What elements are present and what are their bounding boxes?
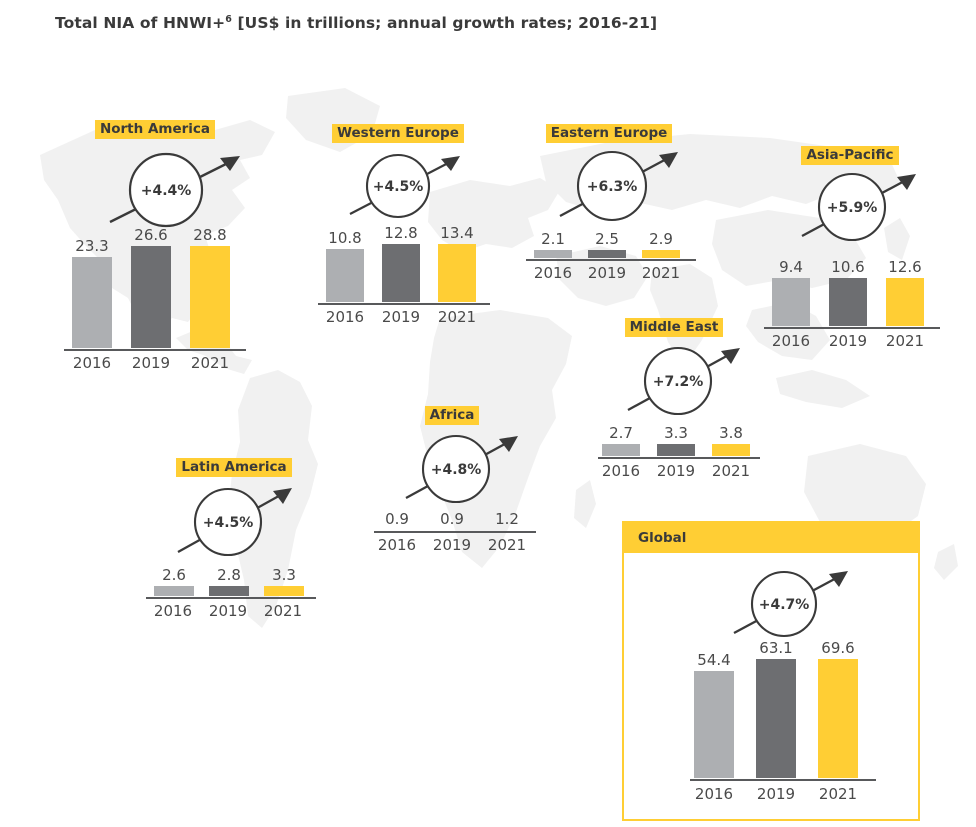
region-label-asia-pacific: Asia-Pacific [801, 146, 898, 165]
bar-rect-2019 [588, 250, 626, 258]
bar-value-2021-asia-pacific: 12.6 [888, 260, 921, 275]
region-label-north-america: North America [95, 120, 215, 139]
bar-2021-africa: 1.2 [488, 516, 526, 530]
growth-value-eastern-europe: +6.3% [587, 179, 638, 195]
growth-arrow-head-icon [721, 348, 740, 364]
axis-line-global [690, 779, 876, 781]
bar-2019-middle-east: 3.3 [657, 426, 695, 456]
bar-2019-eastern-europe: 2.5 [588, 232, 626, 258]
bar-value-2021-western-europe: 13.4 [440, 226, 473, 241]
global-panel-header: Global [624, 523, 918, 553]
growth-value-latin-america: +4.5% [203, 515, 254, 531]
bar-rect-2021 [438, 244, 476, 302]
page-title-superscript: 6 [225, 14, 232, 25]
growth-value-north-america: +4.4% [141, 183, 192, 199]
axis-line-north-america [64, 349, 246, 351]
bar-rect-2016 [772, 278, 810, 326]
page-title-text-before: Total NIA of HNWI+ [55, 14, 225, 32]
bar-value-2019-eastern-europe: 2.5 [595, 232, 619, 247]
year-label-2019: 2019 [753, 787, 799, 802]
bar-2021-north-america: 28.8 [190, 228, 230, 348]
bar-rect-2016 [326, 249, 364, 302]
bar-value-2016-north-america: 23.3 [75, 239, 108, 254]
year-label-2016: 2016 [598, 464, 644, 479]
region-cluster-western-europe: Western Europe +4.5% 10.8 12.8 13.4 2016… [314, 122, 504, 338]
growth-badge-latin-america: +4.5% [176, 480, 302, 564]
bar-rect-2021 [264, 586, 304, 596]
bar-value-2019-north-america: 26.6 [134, 228, 167, 243]
bar-2016-middle-east: 2.7 [602, 426, 640, 456]
bar-value-2019-middle-east: 3.3 [664, 426, 688, 441]
region-label-middle-east: Middle East [625, 318, 724, 337]
bar-2019-western-europe: 12.8 [382, 226, 420, 302]
bar-rect-2021 [642, 250, 680, 258]
bar-value-2016-global: 54.4 [697, 653, 730, 668]
year-label-2021: 2021 [260, 604, 306, 619]
year-label-2021: 2021 [484, 538, 530, 553]
year-label-2016: 2016 [68, 356, 116, 371]
bar-rect-2021 [190, 246, 230, 348]
bar-rect-2019 [657, 444, 695, 456]
bar-value-2019-global: 63.1 [759, 641, 792, 656]
bar-2016-global: 54.4 [694, 641, 734, 778]
bar-rect-2019 [829, 278, 867, 326]
year-label-2016: 2016 [374, 538, 420, 553]
bar-value-2016-eastern-europe: 2.1 [541, 232, 565, 247]
bar-rect-2016 [534, 250, 572, 258]
bar-rect-2021 [886, 278, 924, 326]
region-cluster-latin-america: Latin America +4.5% 2.6 2.8 3.3 2016 201… [150, 456, 340, 628]
bar-2016-africa: 0.9 [378, 516, 416, 530]
year-label-2019: 2019 [378, 310, 424, 325]
region-cluster-north-america: North America +4.4% 23.3 26.6 28.8 2016 … [58, 118, 280, 370]
bar-rect-2016 [72, 257, 112, 348]
bar-rect-2016 [602, 444, 640, 456]
year-labels-global: 2016 2019 2021 [694, 787, 872, 809]
year-label-2016: 2016 [322, 310, 368, 325]
year-label-2019: 2019 [825, 334, 871, 349]
year-label-2021: 2021 [708, 464, 754, 479]
year-labels-asia-pacific: 2016 2019 2021 [768, 334, 940, 354]
bar-value-2016-latin-america: 2.6 [162, 568, 186, 583]
bar-2019-asia-pacific: 10.6 [829, 260, 867, 326]
bar-2021-eastern-europe: 2.9 [642, 232, 680, 258]
region-label-eastern-europe: Eastern Europe [546, 124, 673, 143]
growth-badge-north-america: +4.4% [108, 146, 248, 236]
year-labels-north-america: 2016 2019 2021 [68, 356, 250, 376]
bar-rect-2019 [209, 586, 249, 596]
growth-value-middle-east: +7.2% [653, 374, 704, 390]
bar-value-2021-eastern-europe: 2.9 [649, 232, 673, 247]
bar-rect-2019 [756, 659, 796, 778]
bar-value-2019-latin-america: 2.8 [217, 568, 241, 583]
growth-arrow-head-icon [897, 174, 916, 190]
bar-2021-latin-america: 3.3 [264, 568, 304, 596]
growth-badge-western-europe: +4.5% [348, 148, 468, 226]
axis-line-africa [374, 531, 536, 533]
bar-2019-global: 63.1 [756, 641, 796, 778]
year-labels-western-europe: 2016 2019 2021 [322, 310, 490, 330]
year-label-2016: 2016 [150, 604, 196, 619]
bar-2021-global: 69.6 [818, 641, 858, 778]
growth-badge-africa: +4.8% [404, 428, 528, 510]
year-labels-africa: 2016 2019 2021 [378, 538, 534, 558]
bar-2021-asia-pacific: 12.6 [886, 260, 924, 326]
axis-line-western-europe [318, 303, 490, 305]
bar-2016-eastern-europe: 2.1 [534, 232, 572, 258]
growth-badge-global: +4.7% [732, 563, 858, 645]
region-label-latin-america: Latin America [176, 458, 291, 477]
bar-2021-western-europe: 13.4 [438, 226, 476, 302]
bar-rect-2021 [818, 659, 858, 778]
growth-arrow-head-icon [220, 156, 240, 171]
growth-arrow-head-icon [273, 488, 292, 504]
bar-value-2016-western-europe: 10.8 [328, 231, 361, 246]
bar-2016-western-europe: 10.8 [326, 226, 364, 302]
region-label-africa: Africa [425, 406, 480, 425]
bar-value-2019-africa: 0.9 [440, 512, 464, 527]
year-label-2016: 2016 [530, 266, 576, 281]
bar-value-2016-asia-pacific: 9.4 [779, 260, 803, 275]
growth-arrow-head-icon [829, 571, 848, 587]
region-label-western-europe: Western Europe [332, 124, 464, 143]
bar-2016-latin-america: 2.6 [154, 568, 194, 596]
global-panel: Global +4.7% 54.4 63.1 69.6 [622, 521, 920, 821]
year-label-2019: 2019 [127, 356, 175, 371]
bar-value-2016-africa: 0.9 [385, 512, 409, 527]
year-labels-middle-east: 2016 2019 2021 [602, 464, 758, 484]
bar-2021-middle-east: 3.8 [712, 426, 750, 456]
bar-value-2019-western-europe: 12.8 [384, 226, 417, 241]
page-title: Total NIA of HNWI+6 [US$ in trillions; a… [55, 14, 657, 32]
year-label-2021: 2021 [186, 356, 234, 371]
growth-value-western-europe: +4.5% [373, 179, 424, 195]
axis-line-eastern-europe [526, 259, 696, 261]
global-panel-title: Global [638, 530, 686, 546]
bar-2019-north-america: 26.6 [131, 228, 171, 348]
region-cluster-asia-pacific: Asia-Pacific +5.9% 9.4 10.6 12.6 2016 20… [760, 144, 960, 364]
growth-badge-middle-east: +7.2% [626, 340, 750, 422]
growth-value-global: +4.7% [759, 597, 810, 613]
year-label-2019: 2019 [653, 464, 699, 479]
growth-value-asia-pacific: +5.9% [827, 200, 878, 216]
bar-2019-africa: 0.9 [433, 516, 471, 530]
bar-rect-2019 [382, 244, 420, 302]
axis-line-middle-east [598, 457, 760, 459]
bar-value-2021-global: 69.6 [821, 641, 854, 656]
year-labels-latin-america: 2016 2019 2021 [154, 604, 310, 624]
year-label-2019: 2019 [205, 604, 251, 619]
year-label-2021: 2021 [815, 787, 861, 802]
year-label-2019: 2019 [429, 538, 475, 553]
year-label-2016: 2016 [691, 787, 737, 802]
bar-rect-2016 [694, 671, 734, 778]
growth-value-africa: +4.8% [431, 462, 482, 478]
bar-value-2021-north-america: 28.8 [193, 228, 226, 243]
year-label-2021: 2021 [434, 310, 480, 325]
bar-2019-latin-america: 2.8 [209, 568, 249, 596]
axis-line-latin-america [146, 597, 316, 599]
bar-value-2021-africa: 1.2 [495, 512, 519, 527]
growth-badge-asia-pacific: +5.9% [800, 166, 926, 248]
region-cluster-middle-east: Middle East +7.2% 2.7 3.3 3.8 2016 2019 … [596, 316, 776, 496]
growth-arrow-head-icon [659, 152, 678, 168]
year-label-2021: 2021 [638, 266, 684, 281]
bar-value-2019-asia-pacific: 10.6 [831, 260, 864, 275]
region-cluster-africa: Africa +4.8% 0.9 0.9 1.2 2016 2019 2021 [374, 404, 546, 564]
page-title-text-after: [US$ in trillions; annual growth rates; … [232, 14, 657, 32]
axis-line-asia-pacific [764, 327, 940, 329]
bar-rect-2016 [154, 586, 194, 596]
growth-arrow-head-icon [499, 436, 518, 452]
bar-value-2021-middle-east: 3.8 [719, 426, 743, 441]
year-label-2021: 2021 [882, 334, 928, 349]
bar-rect-2019 [131, 246, 171, 348]
bar-2016-asia-pacific: 9.4 [772, 260, 810, 326]
year-labels-eastern-europe: 2016 2019 2021 [530, 266, 694, 286]
bar-value-2021-latin-america: 3.3 [272, 568, 296, 583]
bar-rect-2021 [712, 444, 750, 456]
growth-arrow-head-icon [441, 156, 460, 171]
bar-value-2016-middle-east: 2.7 [609, 426, 633, 441]
bar-2016-north-america: 23.3 [72, 228, 112, 348]
growth-badge-eastern-europe: +6.3% [558, 144, 688, 228]
region-cluster-eastern-europe: Eastern Europe +6.3% 2.1 2.5 2.9 2016 20… [524, 122, 714, 294]
year-label-2019: 2019 [584, 266, 630, 281]
